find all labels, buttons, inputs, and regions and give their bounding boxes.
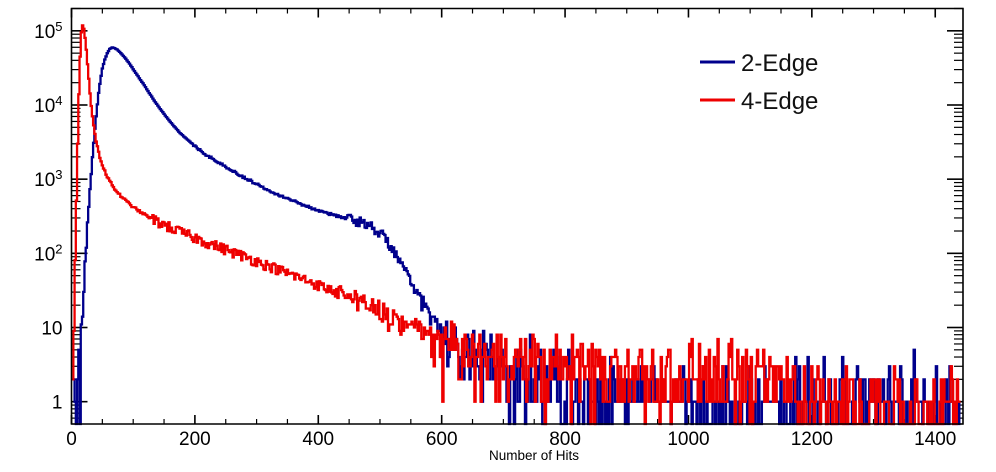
y-tick-label: 10 <box>41 319 62 340</box>
x-tick-label: 800 <box>549 429 581 450</box>
x-tick-label: 200 <box>179 429 211 450</box>
y-tick-label: 1 <box>52 393 63 414</box>
x-tick-label: 1400 <box>914 429 956 450</box>
x-tick-label: 1000 <box>667 429 709 450</box>
x-tick-label: 1200 <box>791 429 833 450</box>
x-axis-title: Number of Hits <box>489 448 579 463</box>
x-tick-label: 400 <box>302 429 334 450</box>
legend-label-4-edge: 4-Edge <box>741 88 818 115</box>
chart-root: 0200400600800100012001400 11010210310410… <box>0 0 996 472</box>
x-tick-label: 600 <box>426 429 458 450</box>
histogram-chart: 0200400600800100012001400 11010210310410… <box>0 0 996 472</box>
legend-label-2-edge: 2-Edge <box>741 50 818 77</box>
x-tick-label: 0 <box>66 429 77 450</box>
